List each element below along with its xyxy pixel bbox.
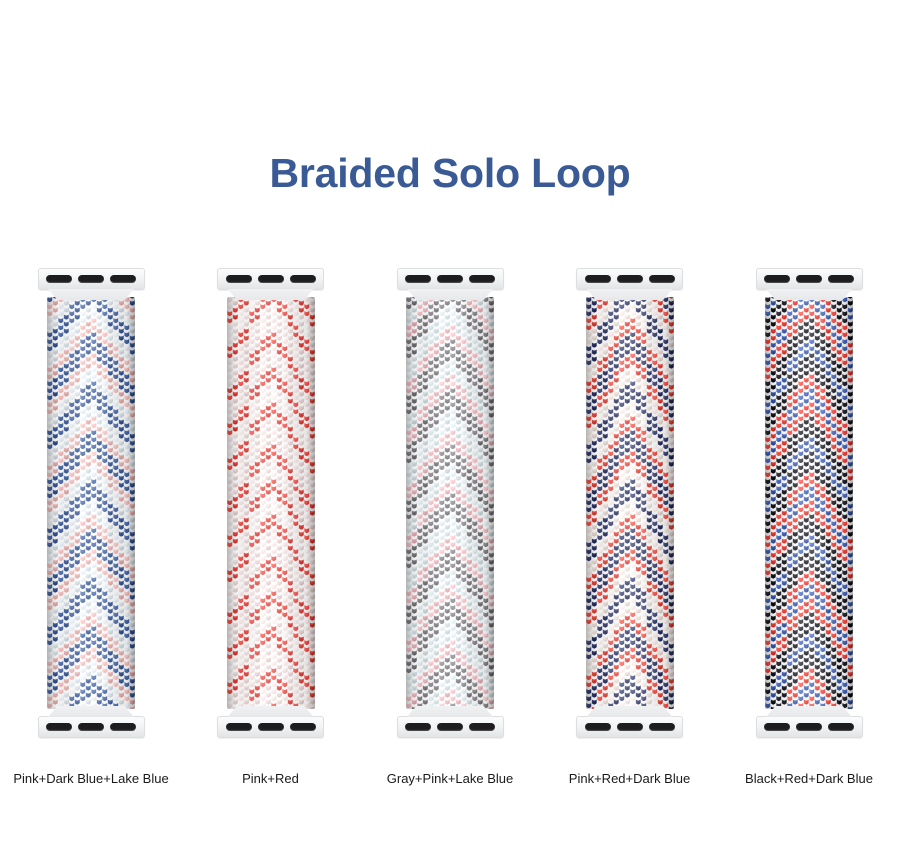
connector-slot (110, 723, 136, 731)
braid-canvas (586, 297, 674, 709)
connector-slot (649, 723, 675, 731)
braided-weave (406, 297, 494, 709)
connector-slot-group (217, 268, 324, 290)
page-title: Braided Solo Loop (0, 147, 900, 199)
band-connector-bottom (576, 708, 683, 738)
band-connector-top (397, 268, 504, 298)
connector-slot (469, 275, 495, 283)
braid-canvas (227, 297, 315, 709)
connector-slot (764, 723, 790, 731)
connector-slot-group (756, 716, 863, 738)
connector-neck (766, 289, 852, 300)
watch-band-image[interactable] (390, 268, 510, 740)
braid-canvas (47, 297, 135, 709)
connector-neck (48, 289, 134, 300)
watch-band-image[interactable] (570, 268, 690, 740)
connector-slot (585, 275, 611, 283)
band-connector-top (576, 268, 683, 298)
connector-slot (226, 275, 252, 283)
product-caption-4: Pink+Red+Dark Blue (569, 770, 690, 787)
connector-slot (585, 723, 611, 731)
connector-slot-group (38, 268, 145, 290)
braided-weave (47, 297, 135, 709)
watch-band-image[interactable] (31, 268, 151, 740)
band-connector-bottom (217, 708, 324, 738)
connector-slot (764, 275, 790, 283)
band-connector-top (217, 268, 324, 298)
product-caption-1: Pink+Dark Blue+Lake Blue (13, 770, 168, 787)
connector-slot-group (38, 716, 145, 738)
connector-slot (110, 275, 136, 283)
connector-neck (407, 289, 493, 300)
product-showcase-page: Braided Solo Loop Pink+Dark Blue+Lake Bl… (0, 0, 900, 862)
braided-weave (765, 297, 853, 709)
band-connector-bottom (38, 708, 145, 738)
product-item-4[interactable]: Pink+Red+Dark Blue (547, 268, 713, 787)
product-item-2[interactable]: Pink+Red (188, 268, 354, 787)
connector-slot (617, 275, 643, 283)
connector-slot (828, 275, 854, 283)
watch-band-image[interactable] (749, 268, 869, 740)
connector-slot (78, 723, 104, 731)
connector-slot (290, 275, 316, 283)
connector-slot (258, 275, 284, 283)
product-caption-5: Black+Red+Dark Blue (745, 770, 873, 787)
connector-slot (405, 275, 431, 283)
connector-neck (228, 289, 314, 300)
connector-slot-group (756, 268, 863, 290)
connector-slot-group (217, 716, 324, 738)
connector-slot (226, 723, 252, 731)
connector-slot (405, 723, 431, 731)
connector-slot (46, 275, 72, 283)
connector-slot (290, 723, 316, 731)
connector-slot-group (576, 268, 683, 290)
product-caption-2: Pink+Red (242, 770, 299, 787)
connector-slot (796, 275, 822, 283)
band-connector-bottom (397, 708, 504, 738)
product-list: Pink+Dark Blue+Lake Blue Pink+Red (0, 268, 900, 778)
connector-slot (617, 723, 643, 731)
braided-weave (586, 297, 674, 709)
connector-slot (78, 275, 104, 283)
band-connector-bottom (756, 708, 863, 738)
connector-slot (796, 723, 822, 731)
product-caption-3: Gray+Pink+Lake Blue (387, 770, 513, 787)
connector-slot (828, 723, 854, 731)
product-item-1[interactable]: Pink+Dark Blue+Lake Blue (8, 268, 174, 787)
connector-slot (437, 723, 463, 731)
connector-slot-group (397, 716, 504, 738)
product-item-3[interactable]: Gray+Pink+Lake Blue (367, 268, 533, 787)
connector-slot (649, 275, 675, 283)
connector-neck (587, 289, 673, 300)
connector-slot (437, 275, 463, 283)
band-connector-top (38, 268, 145, 298)
braid-canvas (406, 297, 494, 709)
braided-weave (227, 297, 315, 709)
braid-canvas (765, 297, 853, 709)
product-item-5[interactable]: Black+Red+Dark Blue (726, 268, 892, 787)
connector-slot (258, 723, 284, 731)
connector-slot (469, 723, 495, 731)
band-connector-top (756, 268, 863, 298)
connector-slot-group (397, 268, 504, 290)
connector-slot (46, 723, 72, 731)
connector-slot-group (576, 716, 683, 738)
watch-band-image[interactable] (211, 268, 331, 740)
